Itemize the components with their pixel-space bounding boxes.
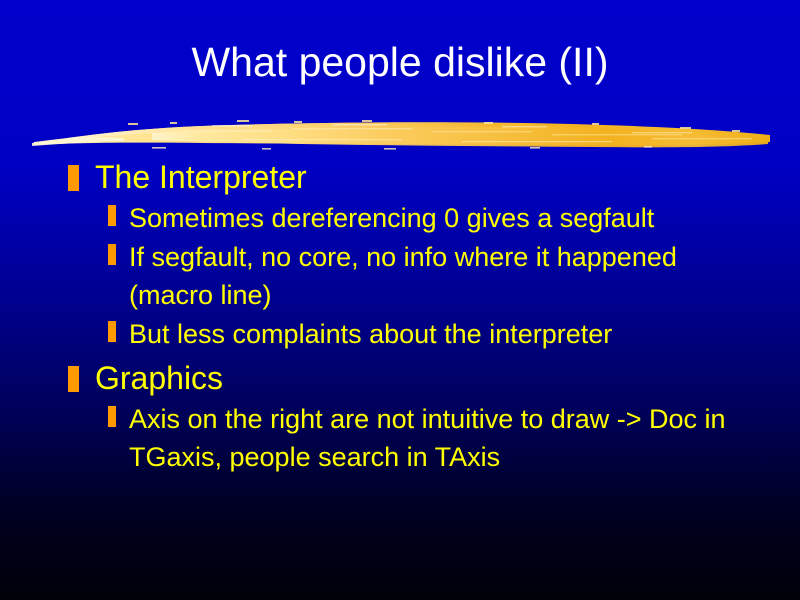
bullet-marker-icon [68,366,79,392]
sub-bullet-text: Sometimes dereferencing 0 gives a segfau… [129,199,654,237]
sub-bullet-text: If segfault, no core, no info where it h… [129,238,729,314]
sub-bullet-text: But less complaints about the interprete… [129,315,612,353]
bullet-text: The Interpreter [95,158,307,197]
bullet-item-level1: Graphics [0,359,800,398]
slide-canvas: What people dislike (II) [0,0,800,600]
bullet-item-level1: The Interpreter [0,158,800,197]
bullet-item-level2: Axis on the right are not intuitive to d… [0,400,800,476]
slide-title: What people dislike (II) [0,38,800,86]
bullet-item-level2: Sometimes dereferencing 0 gives a segfau… [0,199,800,237]
brushstroke-divider-icon [32,112,772,156]
sub-bullet-marker-icon [108,406,116,427]
sub-bullet-text: Axis on the right are not intuitive to d… [129,400,729,476]
slide-body: The Interpreter Sometimes dereferencing … [0,158,800,477]
bullet-text: Graphics [95,359,223,398]
bullet-marker-icon [68,165,79,191]
bullet-item-level2: But less complaints about the interprete… [0,315,800,353]
bullet-item-level2: If segfault, no core, no info where it h… [0,238,800,314]
sub-bullet-marker-icon [108,244,116,265]
sub-bullet-marker-icon [108,321,116,342]
sub-bullet-marker-icon [108,205,116,226]
